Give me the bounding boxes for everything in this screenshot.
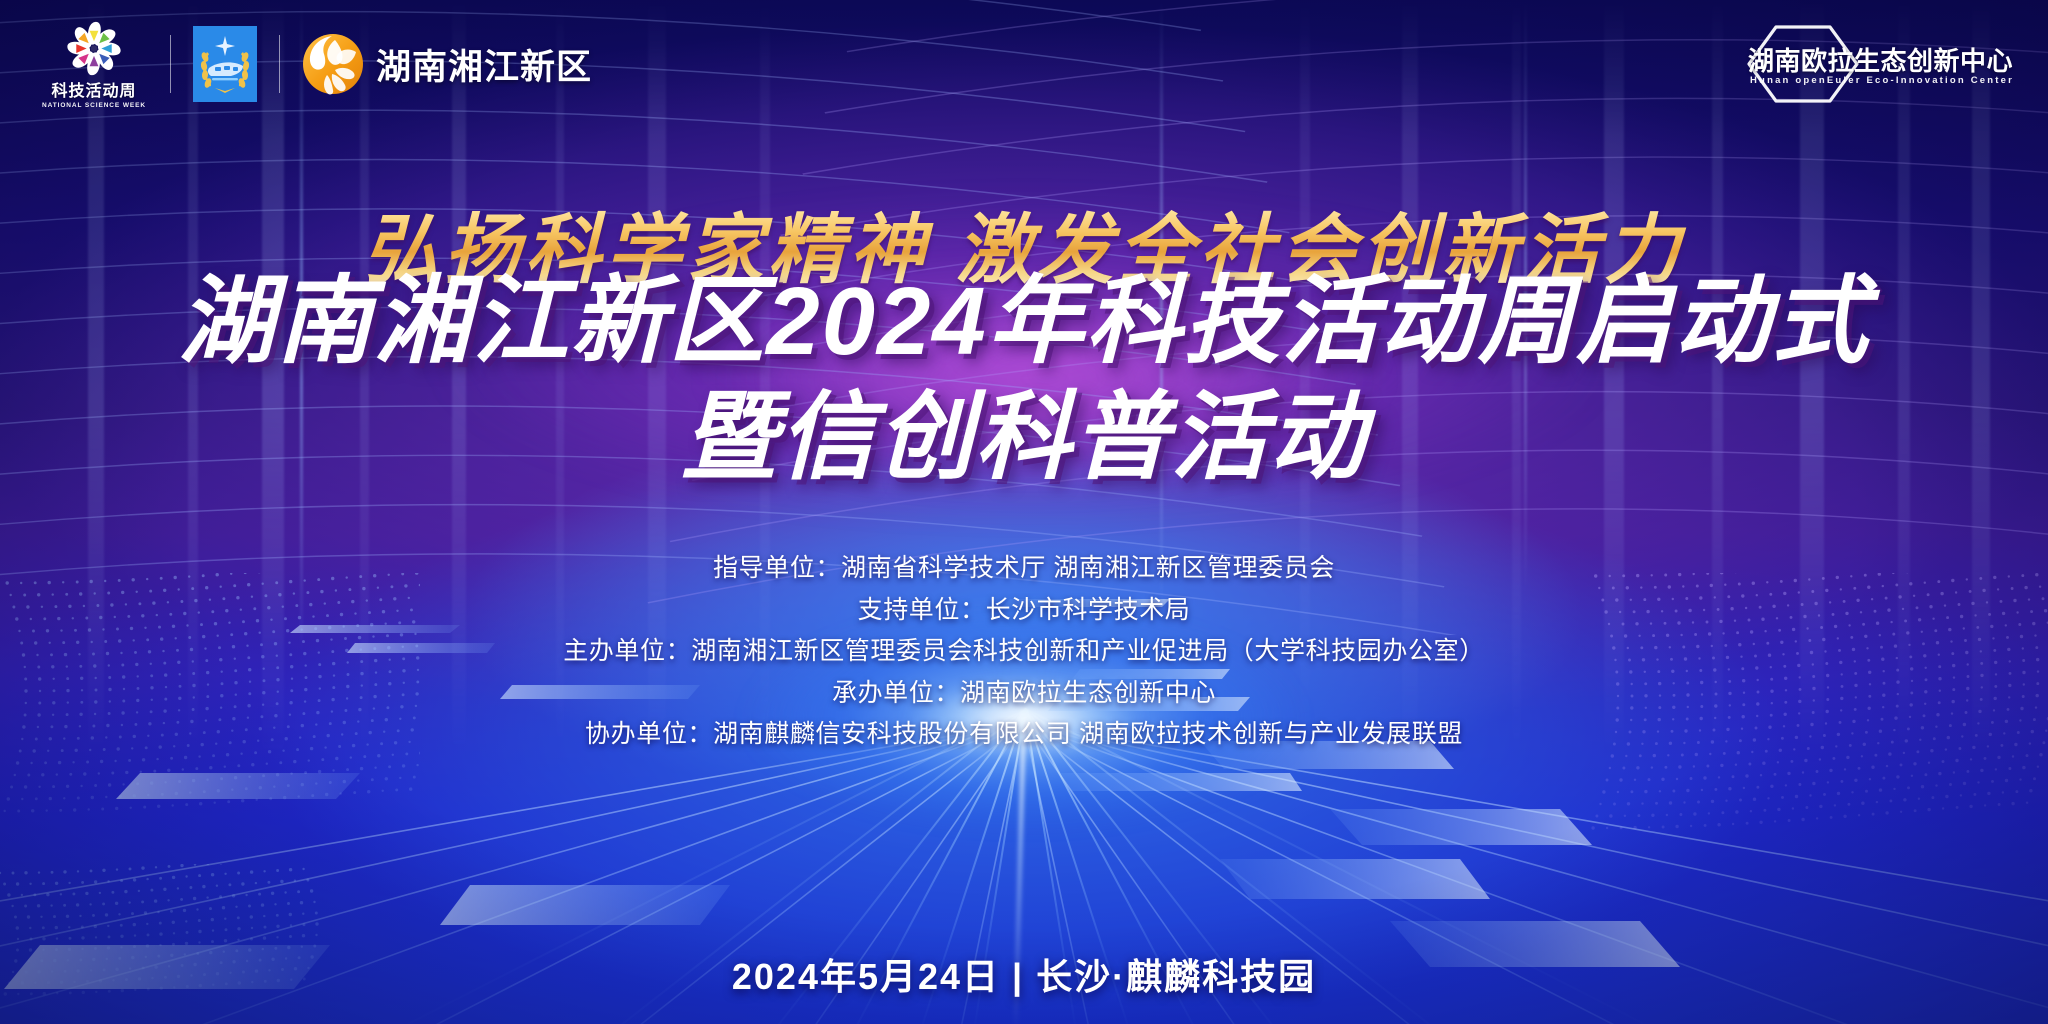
vignette-overlay [0, 0, 2048, 1024]
logo-hunan-openeuler-center: 湖南欧拉生态创新中心 Hunan openEuler Eco-Innovatio… [1722, 23, 2014, 105]
organizer-line: 主办单位：湖南湘江新区管理委员会科技创新和产业促进局（大学科技园办公室） [0, 631, 2048, 673]
banner-title-line1: 湖南湘江新区2024年科技活动周启动式 [0, 272, 2048, 372]
logo-divider-2 [279, 35, 280, 93]
wheat-wreath-star-emblem [193, 26, 257, 102]
logo-oe-label-cn: 湖南欧拉生态创新中心 [1748, 41, 2013, 78]
logo-xj-label: 湖南湘江新区 [376, 39, 592, 90]
logo-hunan-xiangjiang-new-area: 湖南湘江新区 [302, 30, 592, 98]
organizer-line: 支持单位：长沙市科学技术局 [0, 590, 2048, 632]
footer-date-location: 2024年5月24日 | 长沙·麒麟科技园 [0, 948, 2048, 1000]
banner-title-line2: 暨信创科普活动 [0, 388, 2048, 488]
organizer-line: 承办单位：湖南欧拉生态创新中心 [0, 673, 2048, 715]
organizer-line: 指导单位：湖南省科学技术厅 湖南湘江新区管理委员会 [0, 548, 2048, 590]
banner-footer: 2024年5月24日 | 长沙·麒麟科技园 [0, 948, 2048, 1000]
logo-national-science-week: 科技活动周 NATIONAL SCIENCE WEEK [40, 19, 148, 110]
logo-divider-1 [170, 35, 171, 93]
sponsor-logo-group: 科技活动周 NATIONAL SCIENCE WEEK [40, 19, 592, 110]
banner-header: 科技活动周 NATIONAL SCIENCE WEEK [0, 0, 2048, 128]
logo-oe-label-en: Hunan openEuler Eco-Innovation Center [1750, 75, 2014, 86]
organizer-line: 协办单位：湖南麒麟信安科技股份有限公司 湖南欧拉技术创新与产业发展联盟 [0, 714, 2048, 756]
event-banner: 科技活动周 NATIONAL SCIENCE WEEK [0, 0, 2048, 1024]
logo-nsw-caption-en: NATIONAL SCIENCE WEEK [42, 103, 146, 110]
pinwheel-people-icon [57, 19, 131, 81]
orange-swirl-emblem [302, 30, 364, 98]
logo-nsw-caption-cn: 科技活动周 [51, 84, 136, 100]
organizer-list: 指导单位：湖南省科学技术厅 湖南湘江新区管理委员会 支持单位：长沙市科学技术局 … [0, 548, 2048, 756]
